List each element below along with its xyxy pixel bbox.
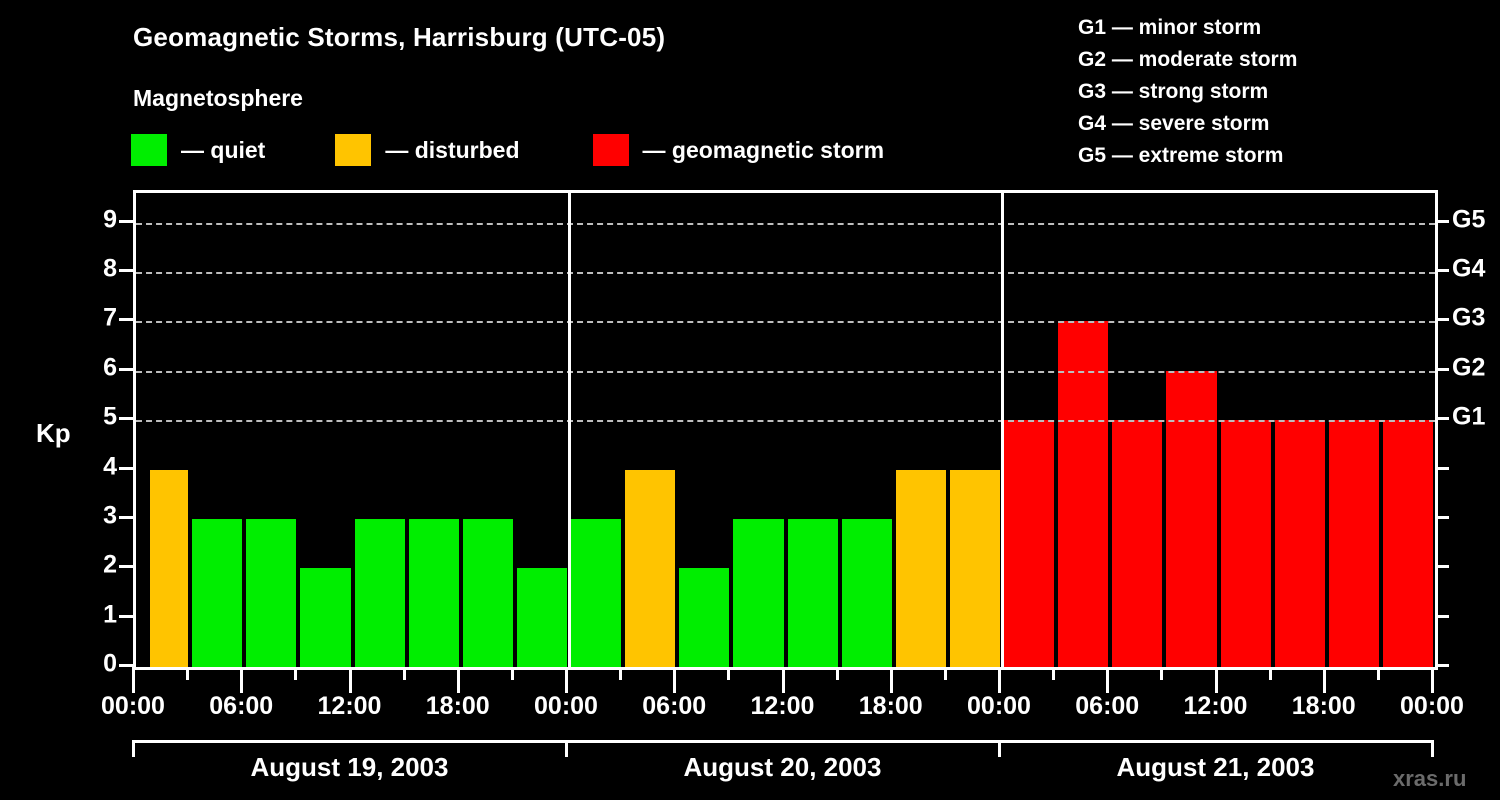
x-axis-tick-label: 06:00 — [209, 692, 273, 721]
right-axis-label-g3: G3 — [1452, 304, 1485, 333]
legend-item-quiet: — quiet — [131, 134, 265, 166]
watermark: xras.ru — [1393, 766, 1466, 792]
legend-item-disturbed: — disturbed — [335, 134, 519, 166]
x-axis-tick-label: 12:00 — [751, 692, 815, 721]
x-axis-tick-major — [1215, 667, 1218, 693]
right-axis-label-g2: G2 — [1452, 353, 1485, 382]
x-axis-tick-minor — [1160, 667, 1163, 680]
orange-swatch-icon — [335, 134, 371, 166]
bar — [788, 519, 838, 667]
y-axis-tick — [119, 368, 133, 371]
day-divider — [1001, 193, 1004, 667]
y-axis-tick-label: 9 — [77, 205, 117, 234]
y-axis-tick-label: 3 — [77, 501, 117, 530]
x-axis-tick-major — [349, 667, 352, 693]
day-bracket — [999, 740, 1432, 743]
x-axis-tick-label: 18:00 — [859, 692, 923, 721]
x-axis-tick-major — [1106, 667, 1109, 693]
x-axis-tick-major — [240, 667, 243, 693]
y-axis-tick — [119, 269, 133, 272]
y-axis-tick — [119, 615, 133, 618]
bar — [950, 470, 1000, 668]
right-axis-tick — [1435, 565, 1449, 568]
day-bracket-end — [132, 740, 135, 757]
y-axis-tick-label: 0 — [77, 650, 117, 679]
bar — [896, 470, 946, 668]
gridline — [136, 321, 1435, 323]
bar — [842, 519, 892, 667]
day-bracket — [566, 740, 999, 743]
x-axis-tick-major — [673, 667, 676, 693]
day-bracket-end — [998, 740, 1001, 757]
bar — [1329, 420, 1379, 667]
g-scale-g5: G5 — extreme storm — [1078, 140, 1297, 172]
bar — [1112, 420, 1162, 667]
right-axis-tick — [1435, 664, 1449, 667]
bar-series — [136, 193, 1435, 667]
bar — [625, 470, 675, 668]
g-scale-g2: G2 — moderate storm — [1078, 44, 1297, 76]
y-axis-tick-label: 2 — [77, 551, 117, 580]
bar — [1383, 420, 1433, 667]
x-axis-tick-minor — [511, 667, 514, 680]
y-axis-tick-label: 7 — [77, 304, 117, 333]
x-axis-tick-major — [565, 667, 568, 693]
bar — [463, 519, 513, 667]
x-axis-tick-label: 00:00 — [534, 692, 598, 721]
bar — [355, 519, 405, 667]
bar — [192, 519, 242, 667]
y-axis-tick-label: 8 — [77, 255, 117, 284]
chart-root: Geomagnetic Storms, Harrisburg (UTC-05) … — [0, 0, 1500, 800]
right-axis-tick — [1435, 220, 1449, 223]
bar — [409, 519, 459, 667]
right-axis-tick — [1435, 417, 1449, 420]
y-axis-tick — [119, 565, 133, 568]
x-axis-tick-major — [890, 667, 893, 693]
day-label: August 20, 2003 — [684, 752, 882, 783]
x-axis-tick-label: 00:00 — [101, 692, 165, 721]
y-axis-tick-label: 5 — [77, 403, 117, 432]
right-axis-tick — [1435, 615, 1449, 618]
x-axis-tick-major — [1431, 667, 1434, 693]
g-scale-g1: G1 — minor storm — [1078, 12, 1297, 44]
bar — [733, 519, 783, 667]
g-scale-g4: G4 — severe storm — [1078, 108, 1297, 140]
gridline — [136, 371, 1435, 373]
bar — [1221, 420, 1271, 667]
y-axis-tick — [119, 220, 133, 223]
x-axis-tick-label: 06:00 — [642, 692, 706, 721]
bar — [571, 519, 621, 667]
y-axis-tick — [119, 467, 133, 470]
day-bracket — [133, 740, 566, 743]
x-axis-tick-label: 12:00 — [318, 692, 382, 721]
bar — [246, 519, 296, 667]
x-axis-tick-minor — [619, 667, 622, 680]
bar — [1004, 420, 1054, 667]
day-label: August 21, 2003 — [1117, 752, 1315, 783]
bar — [1275, 420, 1325, 667]
right-axis-label-g4: G4 — [1452, 255, 1485, 284]
legend-label-disturbed: — disturbed — [385, 137, 519, 164]
y-axis-tick-label: 6 — [77, 353, 117, 382]
x-axis-tick-label: 12:00 — [1184, 692, 1248, 721]
right-axis-label-g5: G5 — [1452, 205, 1485, 234]
gridline — [136, 223, 1435, 225]
day-divider — [568, 193, 571, 667]
x-axis-tick-major — [1323, 667, 1326, 693]
day-label: August 19, 2003 — [251, 752, 449, 783]
x-axis-tick-minor — [186, 667, 189, 680]
y-axis-tick-label: 1 — [77, 600, 117, 629]
green-swatch-icon — [131, 134, 167, 166]
right-axis-label-g1: G1 — [1452, 403, 1485, 432]
x-axis-tick-minor — [1269, 667, 1272, 680]
x-axis-tick-major — [457, 667, 460, 693]
g-scale-g3: G3 — strong storm — [1078, 76, 1297, 108]
bar — [300, 568, 350, 667]
gridline — [136, 272, 1435, 274]
right-axis-tick — [1435, 516, 1449, 519]
x-axis-tick-minor — [727, 667, 730, 680]
x-axis-tick-minor — [944, 667, 947, 680]
y-axis-tick — [119, 417, 133, 420]
plot-area — [133, 190, 1438, 670]
g-scale-legend: G1 — minor storm G2 — moderate storm G3 … — [1078, 12, 1297, 172]
right-axis-tick — [1435, 318, 1449, 321]
bar — [679, 568, 729, 667]
magnetosphere-label: Magnetosphere — [133, 85, 303, 112]
x-axis-tick-minor — [1052, 667, 1055, 680]
gridline — [136, 420, 1435, 422]
x-axis-tick-major — [998, 667, 1001, 693]
x-axis-tick-minor — [294, 667, 297, 680]
right-axis-tick — [1435, 368, 1449, 371]
legend-item-storm: — geomagnetic storm — [593, 134, 885, 166]
x-axis-tick-minor — [1377, 667, 1380, 680]
bar — [150, 470, 188, 668]
page-title: Geomagnetic Storms, Harrisburg (UTC-05) — [133, 22, 665, 53]
day-bracket-end — [1431, 740, 1434, 757]
x-axis-tick-major — [132, 667, 135, 693]
x-axis-tick-label: 00:00 — [967, 692, 1031, 721]
x-axis-tick-label: 00:00 — [1400, 692, 1464, 721]
right-axis-tick — [1435, 269, 1449, 272]
y-axis-tick — [119, 664, 133, 667]
x-axis-tick-label: 06:00 — [1075, 692, 1139, 721]
x-axis-tick-minor — [403, 667, 406, 680]
right-axis-tick — [1435, 467, 1449, 470]
y-axis-tick — [119, 318, 133, 321]
day-bracket-end — [565, 740, 568, 757]
legend-label-storm: — geomagnetic storm — [643, 137, 885, 164]
y-axis-tick — [119, 516, 133, 519]
bar — [517, 568, 567, 667]
x-axis-tick-major — [782, 667, 785, 693]
y-axis-tick-label: 4 — [77, 452, 117, 481]
x-axis-tick-minor — [836, 667, 839, 680]
bar — [1058, 321, 1108, 667]
red-swatch-icon — [593, 134, 629, 166]
x-axis-tick-label: 18:00 — [426, 692, 490, 721]
legend: — quiet — disturbed — geomagnetic storm — [131, 133, 884, 167]
y-axis-title: Kp — [36, 418, 71, 449]
x-axis-tick-label: 18:00 — [1292, 692, 1356, 721]
legend-label-quiet: — quiet — [181, 137, 265, 164]
bar — [1166, 371, 1216, 667]
